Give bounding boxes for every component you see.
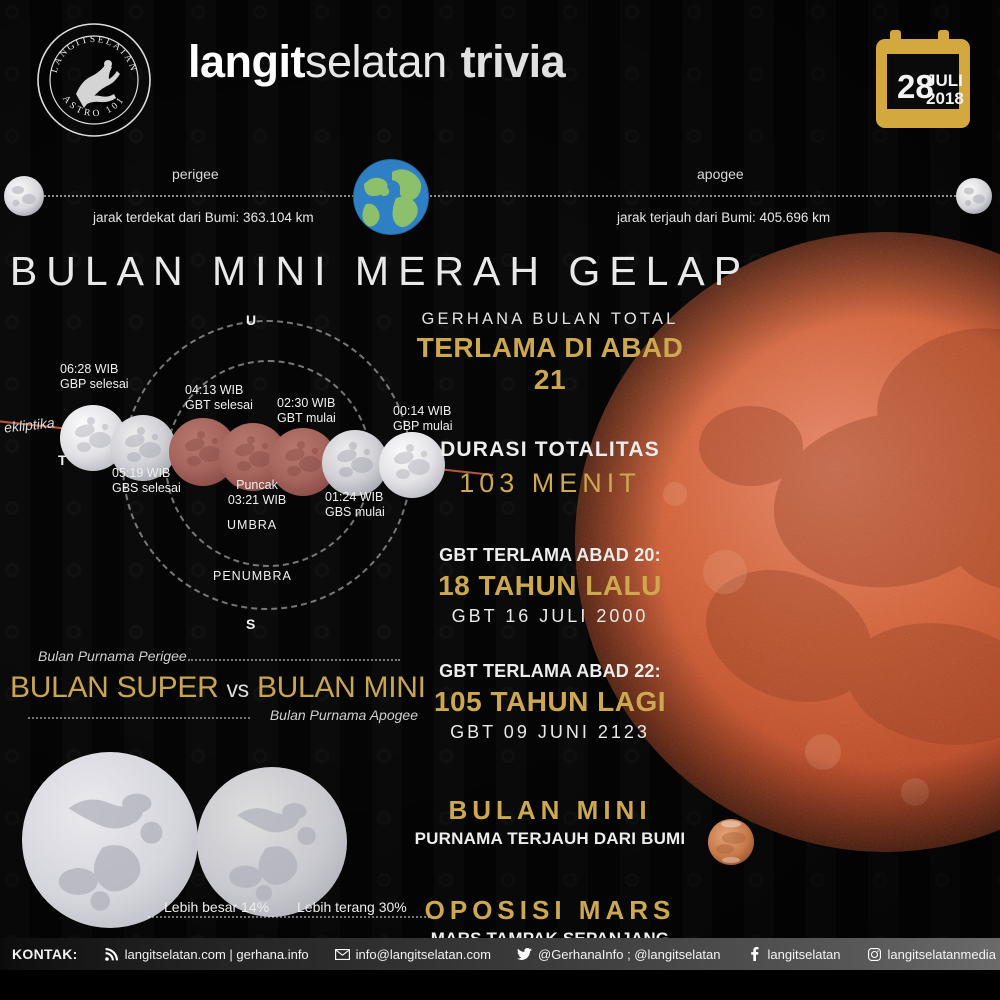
fact-headline-4: 105 TAHUN LAGI [400, 686, 700, 718]
note-apogee: Bulan Purnama Apogee [270, 707, 418, 723]
title-bulan-super: BULAN SUPER [10, 671, 218, 704]
penumbra-label: PENUMBRA [213, 569, 292, 584]
twitter-icon [517, 947, 532, 961]
fact-sub-4: GBT 09 JUNI 2123 [400, 722, 700, 743]
calendar-month: JULI [926, 71, 963, 90]
note-perigee-rule [188, 659, 400, 661]
fact-headline-6: OPOSISI MARS [400, 895, 700, 926]
fact-kicker-3: GBT TERLAMA ABAD 20: [400, 545, 700, 566]
fact-headline-3: 18 TAHUN LALU [400, 570, 700, 602]
footer-baseline [0, 970, 1000, 1000]
apogee-sub: jarak terjauh dari Bumi: 405.696 km [617, 210, 830, 225]
moon-size-comparison: Lebih besar 14% Lebih terang 30% [0, 745, 440, 935]
fact-sub-3: GBT 16 JULI 2000 [400, 606, 700, 627]
moon-icon-perigee [4, 176, 44, 216]
contact-facebook[interactable]: langitselatan [747, 947, 867, 962]
fact-sub-5: PURNAMA TERJAUH DARI BUMI [400, 829, 700, 849]
contact-twitter[interactable]: @GerhanaInfo ; @langitselatan [517, 947, 747, 962]
fact-headline-5: BULAN MINI [400, 795, 700, 826]
calendar-year: 2018 [926, 89, 964, 108]
phase-label-0: 06:28 WIBGBP selesai [60, 362, 129, 392]
brand-trivia: trivia [461, 36, 566, 87]
orbit-line-right [430, 195, 960, 197]
phase-label-1: 05:19 WIBGBS selesai [112, 466, 181, 496]
caption-size: Lebih besar 14% [164, 899, 269, 915]
contact-instagram[interactable]: langitselatanmedia [867, 947, 1000, 962]
comparison-rule [148, 916, 438, 918]
page-title: langitselatantrivia [188, 36, 565, 88]
phase-label-2: 04:13 WIBGBT selesai [185, 383, 253, 413]
fact-headline-2: 103 MENIT [400, 468, 700, 499]
moon-icon-apogee [956, 178, 992, 214]
contact-footer: KONTAK: langitselatan.com | gerhana.info… [0, 938, 1000, 970]
perigee-label: perigee [172, 166, 219, 182]
contact-email-text: info@langitselatan.com [356, 947, 491, 962]
earth-icon [352, 158, 430, 236]
brand-bold: langit [188, 36, 305, 87]
svg-text:LANGITSELATAN: LANGITSELATAN [50, 35, 139, 74]
super-vs-mini-title: BULAN SUPER vs BULAN MINI [10, 671, 430, 705]
langitselatan-logo: LANGITSELATAN ASTRO 101 [36, 22, 152, 138]
orbit-line-left [44, 195, 354, 197]
envelope-icon [335, 947, 350, 961]
phase-label-3: 02:30 WIBGBT mulai [277, 396, 336, 426]
mars-planet-icon [707, 818, 755, 866]
right-facts-column: GERHANA BULAN TOTAL TERLAMA DI ABAD 21 D… [400, 310, 700, 975]
contact-instagram-text: langitselatanmedia [888, 947, 996, 962]
contact-label: KONTAK: [0, 946, 104, 962]
note-apogee-rule [28, 717, 250, 719]
fact-kicker-1: GERHANA BULAN TOTAL [400, 310, 700, 329]
fact-kicker-2: DURASI TOTALITAS [400, 438, 700, 462]
contact-website[interactable]: langitselatan.com | gerhana.info [104, 947, 335, 962]
contact-facebook-text: langitselatan [768, 947, 841, 962]
note-perigee: Bulan Purnama Perigee [38, 648, 187, 664]
contact-email[interactable]: info@langitselatan.com [335, 947, 517, 962]
caption-brightness: Lebih terang 30% [297, 899, 407, 915]
apogee-label: apogee [697, 166, 744, 182]
fact-kicker-4: GBT TERLAMA ABAD 22: [400, 661, 700, 682]
brand-light: selatan [305, 36, 447, 87]
perigee-apogee-strip: perigee jarak terdekat dari Bumi: 363.10… [0, 150, 1000, 240]
main-headline: BULAN MINI MERAH GELAP [0, 248, 760, 295]
super-vs-mini-heading: Bulan Purnama Perigee BULAN SUPER vs BUL… [10, 648, 430, 729]
fact-headline-1: TERLAMA DI ABAD 21 [400, 332, 700, 396]
rss-icon [104, 947, 119, 961]
calendar-date-badge: 28 JULI 2018 [874, 28, 972, 132]
instagram-icon [867, 947, 882, 961]
phase-label-4: 01:24 WIBGBS mulai [325, 490, 385, 520]
contact-twitter-text: @GerhanaInfo ; @langitselatan [538, 947, 721, 962]
umbra-label: UMBRA [227, 518, 277, 533]
peak-label: Puncak03:21 WIB [222, 478, 292, 508]
moon-mini-apogee [197, 767, 347, 917]
title-vs: vs [226, 676, 248, 702]
facebook-icon [747, 947, 762, 961]
perigee-sub: jarak terdekat dari Bumi: 363.104 km [93, 210, 314, 225]
contact-website-text: langitselatan.com | gerhana.info [125, 947, 309, 962]
